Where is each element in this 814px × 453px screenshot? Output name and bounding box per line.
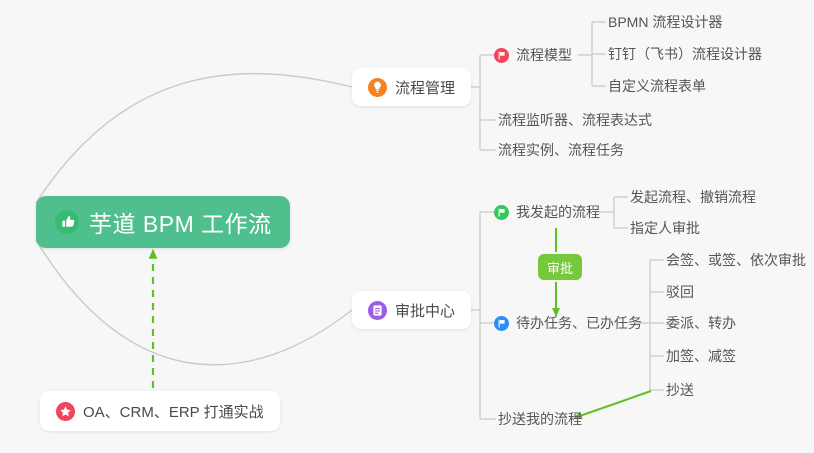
flag-icon [494,205,509,220]
edge-root-to-process-management [36,74,352,203]
label-bpmn-designer: BPMN 流程设计器 [608,12,722,32]
node-start-cancel[interactable]: 发起流程、撤销流程 [624,182,762,212]
node-add-sign[interactable]: 加签、减签 [660,341,742,371]
branch-node-approval-center[interactable]: 审批中心 [352,291,471,329]
label-delegate: 委派、转办 [666,313,736,333]
label-process-model: 流程模型 [516,45,572,65]
integration-note-node[interactable]: OA、CRM、ERP 打通实战 [40,391,280,431]
label-my-initiated: 我发起的流程 [516,202,600,222]
edge-root-to-approval-center [36,240,352,365]
root-node[interactable]: 芋道 BPM 工作流 [36,196,290,248]
lightbulb-icon [368,78,387,97]
label-todo-done-tasks: 待办任务、已办任务 [516,313,642,333]
mindmap-canvas: 芋道 BPM 工作流 流程管理 流程模型 BPMN 流程设计器 钉钉（飞书）流程 [0,0,814,453]
star-icon [56,402,75,421]
label-process-instance: 流程实例、流程任务 [498,140,624,160]
node-custom-form[interactable]: 自定义流程表单 [602,71,712,101]
thumbs-up-icon [54,209,80,235]
branch-node-process-management[interactable]: 流程管理 [352,68,471,106]
label-countersign: 会签、或签、依次审批 [666,250,806,270]
label-assignee-approve: 指定人审批 [630,218,700,238]
integration-note-label: OA、CRM、ERP 打通实战 [83,401,264,422]
approval-badge[interactable]: 审批 [538,254,582,280]
branch-label-process-management: 流程管理 [395,77,455,98]
flag-icon [494,48,509,63]
node-my-initiated[interactable]: 我发起的流程 [492,197,606,227]
node-assignee-approve[interactable]: 指定人审批 [624,213,706,243]
node-process-instance[interactable]: 流程实例、流程任务 [492,135,630,165]
node-delegate[interactable]: 委派、转办 [660,308,742,338]
label-reject: 驳回 [666,282,694,302]
label-process-listener: 流程监听器、流程表达式 [498,110,652,130]
node-process-model[interactable]: 流程模型 [492,40,578,70]
label-custom-form: 自定义流程表单 [608,76,706,96]
label-add-sign: 加签、减签 [666,346,736,366]
node-carbon-copy[interactable]: 抄送 [660,375,700,405]
node-todo-done-tasks[interactable]: 待办任务、已办任务 [492,308,648,338]
approval-badge-label: 审批 [547,258,573,277]
node-process-listener[interactable]: 流程监听器、流程表达式 [492,105,658,135]
root-label: 芋道 BPM 工作流 [89,205,272,239]
branch-label-approval-center: 审批中心 [395,300,455,321]
node-cc-to-me[interactable]: 抄送我的流程 [492,404,588,434]
flag-icon [494,316,509,331]
label-carbon-copy: 抄送 [666,380,694,400]
label-dingtalk-designer: 钉钉（飞书）流程设计器 [608,44,762,64]
label-start-cancel: 发起流程、撤销流程 [630,187,756,207]
node-reject[interactable]: 驳回 [660,277,700,307]
node-countersign[interactable]: 会签、或签、依次审批 [660,245,812,275]
clipboard-icon [368,301,387,320]
node-dingtalk-designer[interactable]: 钉钉（飞书）流程设计器 [602,39,768,69]
label-cc-to-me: 抄送我的流程 [498,409,582,429]
node-bpmn-designer[interactable]: BPMN 流程设计器 [602,7,728,37]
